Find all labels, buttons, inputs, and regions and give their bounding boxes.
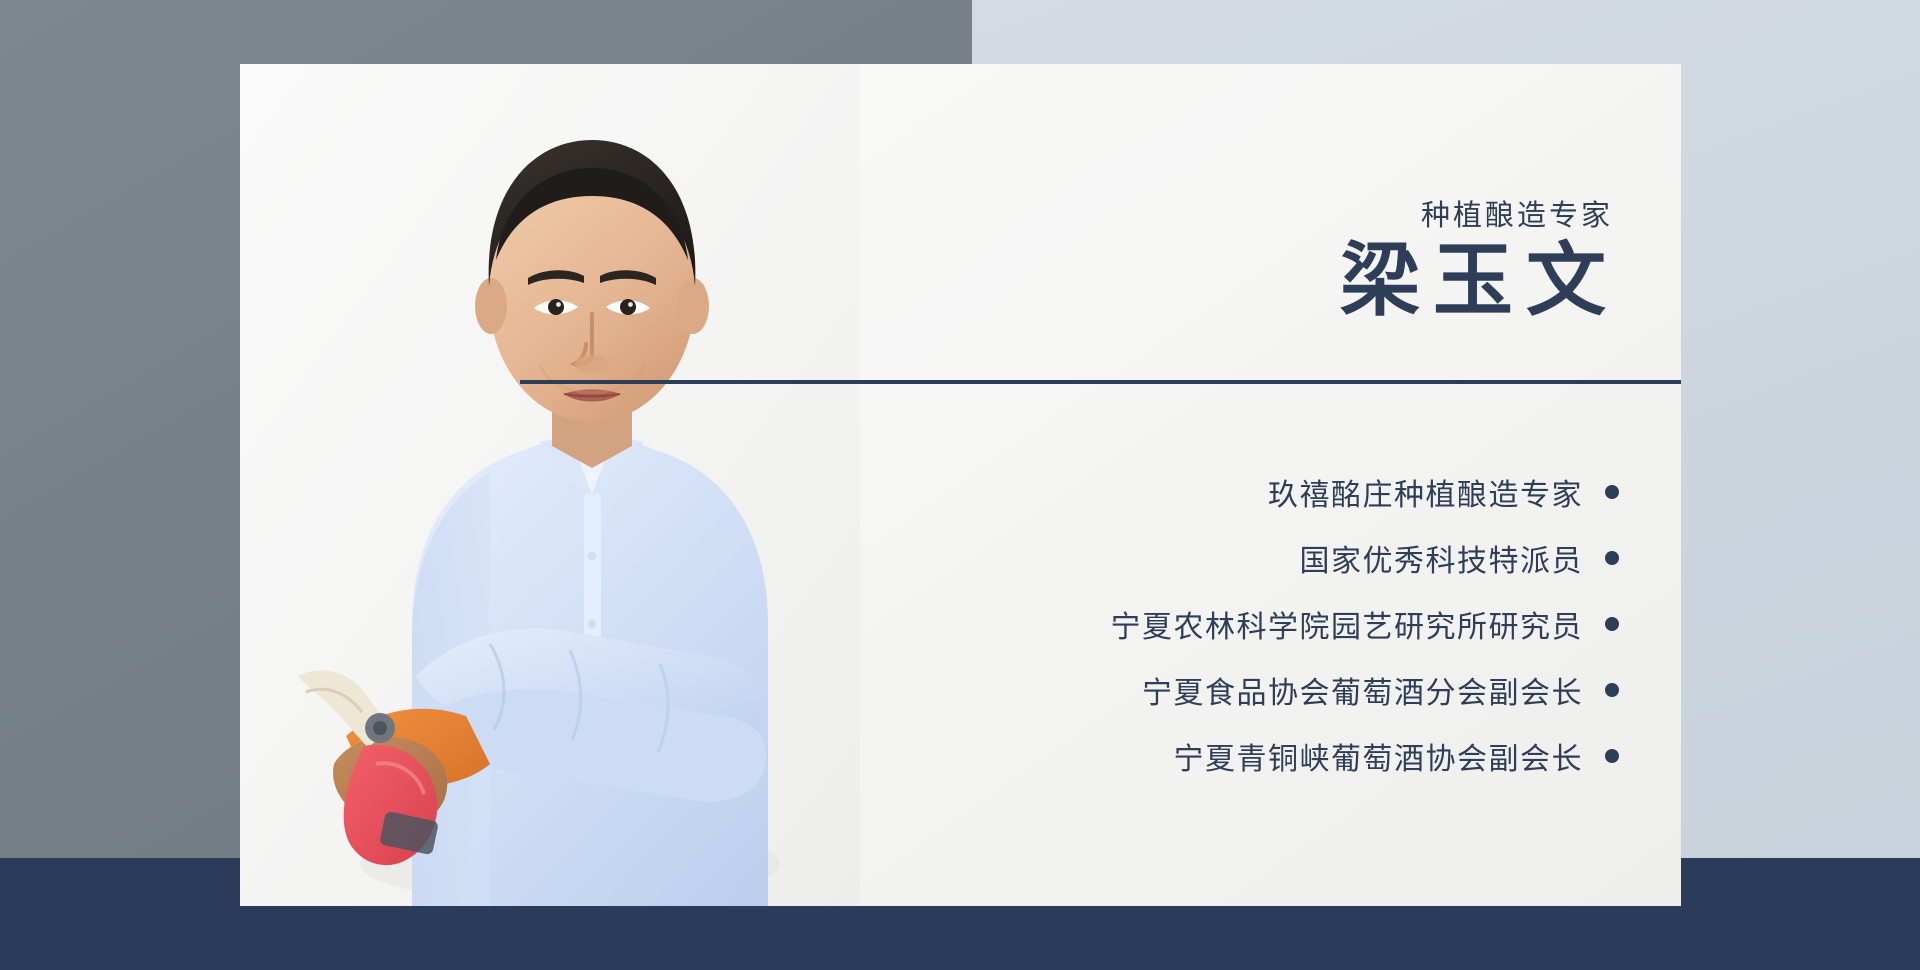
credential-text: 宁夏农林科学院园艺研究所研究员 <box>1111 602 1584 646</box>
person-name: 梁玉文 <box>1340 234 1619 330</box>
poster-canvas: 种植酿造专家 梁玉文 玖禧酩庄种植酿造专家 国家优秀科技特派员 宁夏农林科学院园… <box>0 0 1920 970</box>
portrait-photo <box>240 64 860 906</box>
credential-text: 宁夏青铜峡葡萄酒协会副会长 <box>1174 734 1584 778</box>
bullet-dot-icon <box>1605 749 1619 763</box>
list-item: 国家优秀科技特派员 <box>1111 525 1620 591</box>
credential-text: 国家优秀科技特派员 <box>1300 536 1584 580</box>
divider-rule <box>520 380 1681 384</box>
list-item: 宁夏青铜峡葡萄酒协会副会长 <box>1111 723 1620 789</box>
credential-text: 玖禧酩庄种植酿造专家 <box>1268 470 1583 514</box>
list-item: 宁夏食品协会葡萄酒分会副会长 <box>1111 657 1620 723</box>
bullet-dot-icon <box>1605 683 1619 697</box>
role-title: 种植酿造专家 <box>1421 192 1613 234</box>
list-item: 宁夏农林科学院园艺研究所研究员 <box>1111 591 1620 657</box>
credential-list: 玖禧酩庄种植酿造专家 国家优秀科技特派员 宁夏农林科学院园艺研究所研究员 宁夏食… <box>1111 459 1620 789</box>
bullet-dot-icon <box>1605 617 1619 631</box>
bullet-dot-icon <box>1605 551 1619 565</box>
bullet-dot-icon <box>1605 485 1619 499</box>
info-column: 种植酿造专家 梁玉文 玖禧酩庄种植酿造专家 国家优秀科技特派员 宁夏农林科学院园… <box>940 64 1681 906</box>
credential-text: 宁夏食品协会葡萄酒分会副会长 <box>1142 668 1583 712</box>
list-item: 玖禧酩庄种植酿造专家 <box>1111 459 1620 525</box>
profile-card: 种植酿造专家 梁玉文 玖禧酩庄种植酿造专家 国家优秀科技特派员 宁夏农林科学院园… <box>240 64 1681 906</box>
